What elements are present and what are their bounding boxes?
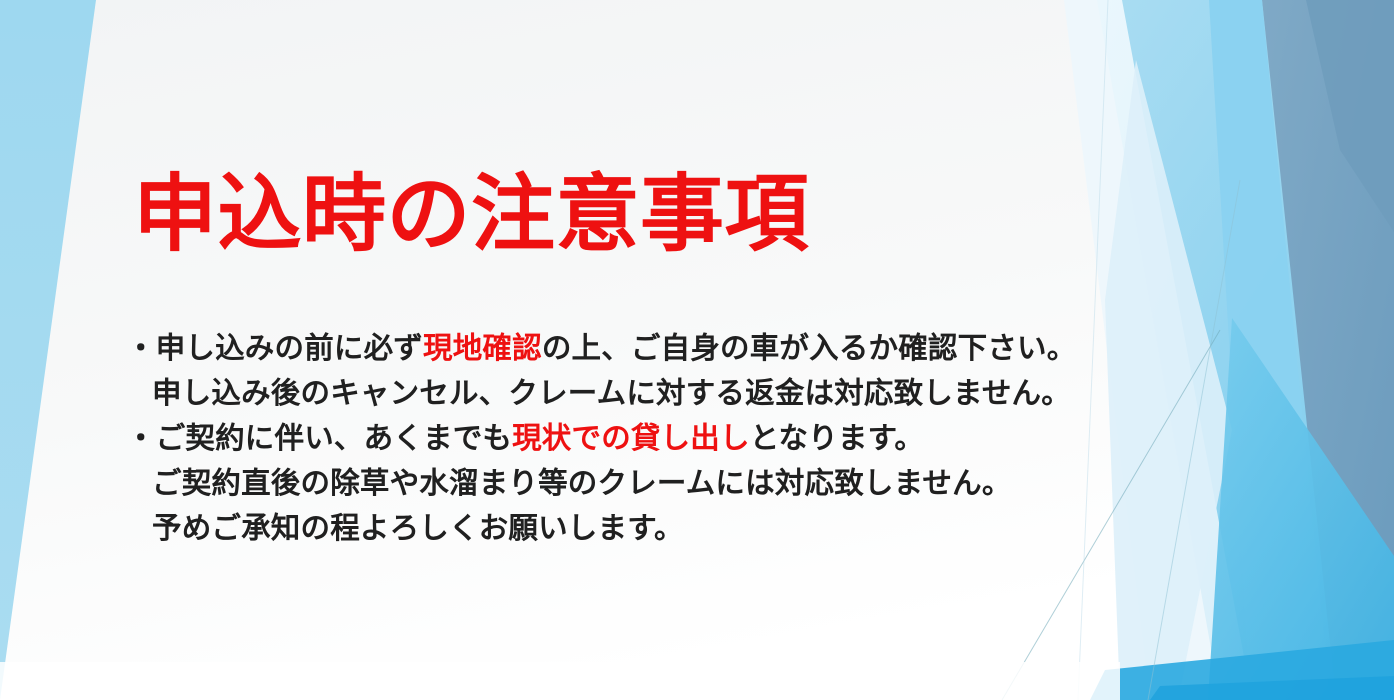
body-text: ・ご契約に伴い、あくまでも (126, 422, 512, 455)
body-text: となります。 (750, 422, 924, 455)
presentation-slide: 申込時の注意事項 ・申し込みの前に必ず現地確認の上、ご自身の車が入るか確認下さい… (0, 0, 1394, 700)
body-text: 予めご承知の程よろしくお願いします。 (152, 512, 684, 545)
body-text: 申し込み後のキャンセル、クレームに対する返金は対応致しません。 (152, 377, 1071, 410)
body-text: ・申し込みの前に必ず (126, 332, 423, 365)
body-text-block: ・申し込みの前に必ず現地確認の上、ご自身の車が入るか確認下さい。申し込み後のキャ… (126, 326, 1126, 551)
body-line: 予めご承知の程よろしくお願いします。 (126, 506, 1126, 551)
highlighted-text: 現地確認 (423, 332, 542, 365)
body-text: ご契約直後の除草や水溜まり等のクレームには対応致しません。 (152, 467, 1012, 500)
body-text: の上、ご自身の車が入るか確認下さい。 (542, 332, 1077, 365)
body-line: 申し込み後のキャンセル、クレームに対する返金は対応致しません。 (126, 371, 1126, 416)
body-line: ご契約直後の除草や水溜まり等のクレームには対応致しません。 (126, 461, 1126, 506)
page-title: 申込時の注意事項 (133, 168, 809, 260)
body-line: ・ご契約に伴い、あくまでも現状での貸し出しとなります。 (126, 416, 1126, 461)
slide-content: 申込時の注意事項 ・申し込みの前に必ず現地確認の上、ご自身の車が入るか確認下さい… (0, 0, 1394, 700)
body-line: ・申し込みの前に必ず現地確認の上、ご自身の車が入るか確認下さい。 (126, 326, 1126, 371)
highlighted-text: 現状での貸し出し (512, 422, 750, 455)
